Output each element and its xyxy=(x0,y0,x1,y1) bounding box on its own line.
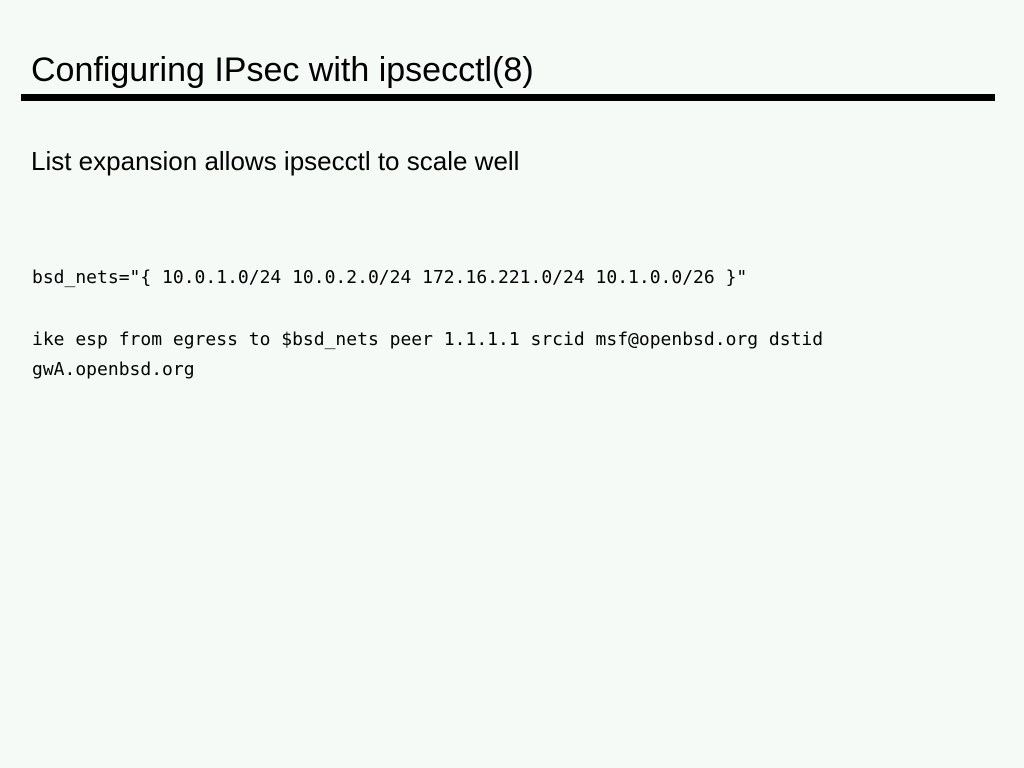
slide-body: List expansion allows ipsecctl to scale … xyxy=(0,0,1024,768)
presentation-slide: Configuring IPsec with ipsecctl(8) List … xyxy=(0,0,1024,768)
code-block-ike-rule: ike esp from egress to $bsd_nets peer 1.… xyxy=(32,325,922,385)
bullet-text: List expansion allows ipsecctl to scale … xyxy=(31,144,519,178)
code-block-variable-definition: bsd_nets="{ 10.0.1.0/24 10.0.2.0/24 172.… xyxy=(32,263,992,293)
